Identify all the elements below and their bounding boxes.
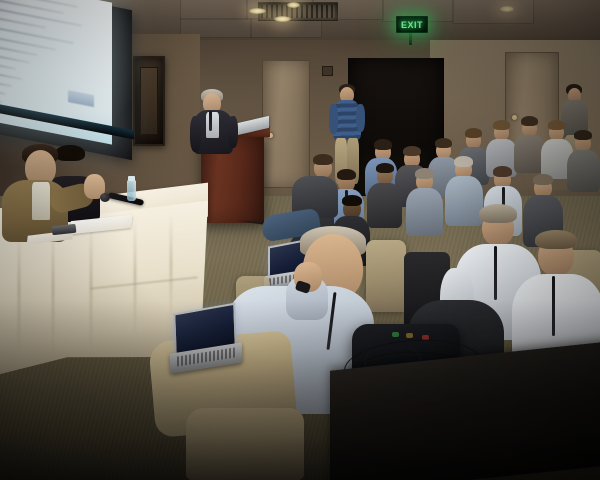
- door-center-left[interactable]: [262, 60, 310, 188]
- door-knob-icon: [512, 115, 517, 120]
- wall-sconce-icon: [133, 56, 165, 146]
- slide-highlight-block: [68, 90, 94, 107]
- water-bottle[interactable]: [127, 180, 136, 201]
- recessed-can-light-2: [274, 16, 291, 22]
- recessed-can-light-3: [287, 2, 300, 8]
- wall-speaker-box: [322, 66, 333, 76]
- ceiling-tile: [452, 0, 534, 24]
- conference-room-photo: EXIT: [0, 0, 600, 480]
- exit-sign-label: EXIT: [401, 20, 423, 30]
- floor-shadow: [0, 300, 600, 480]
- microphone-head-icon: [100, 193, 110, 202]
- water-bottle-cap: [128, 176, 135, 181]
- exit-sign: EXIT: [396, 16, 428, 33]
- ceiling-tile: [180, 0, 248, 20]
- recessed-can-light-4: [500, 6, 514, 12]
- recessed-can-light-1: [249, 8, 266, 14]
- exit-sign-stem: [409, 31, 412, 45]
